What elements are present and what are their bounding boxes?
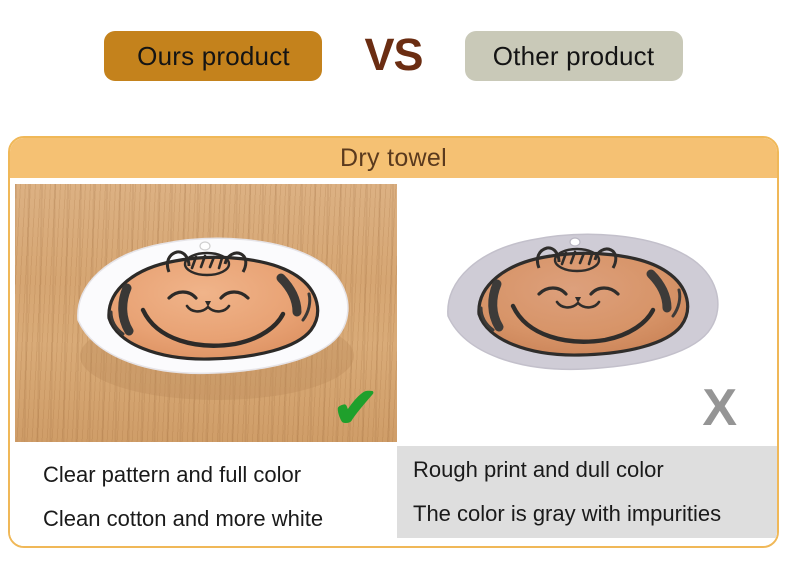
photo-strip: ✔	[10, 184, 777, 442]
card-title: Dry towel	[10, 138, 777, 178]
caption-ours-1: Clear pattern and full color	[43, 453, 397, 497]
comparison-card: Dry towel	[8, 136, 779, 548]
badge-ours-label: Ours product	[137, 41, 290, 72]
towel-ours	[65, 228, 355, 403]
badge-other-label: Other product	[493, 41, 655, 72]
card-title-label: Dry towel	[340, 144, 447, 173]
green-check-icon: ✔	[332, 380, 379, 436]
vs-label: VS	[364, 32, 422, 80]
comparison-header: Ours product VS Other product	[0, 0, 787, 112]
badge-other-product: Other product	[465, 31, 683, 81]
towel-other-illustration	[435, 224, 725, 399]
towel-other	[435, 224, 725, 399]
caption-ours-2: Clean cotton and more white	[43, 497, 397, 541]
captions-other: Rough print and dull color The color is …	[397, 446, 777, 538]
photo-other-product: X	[397, 184, 777, 442]
card-body: ✔	[10, 178, 777, 548]
towel-ours-illustration	[65, 228, 355, 403]
photo-ours-product: ✔	[15, 184, 397, 442]
caption-other-1: Rough print and dull color	[413, 448, 777, 492]
badge-ours-product: Ours product	[104, 31, 322, 81]
caption-other-2: The color is gray with impurities	[413, 492, 777, 536]
gray-x-icon: X	[702, 382, 737, 434]
caption-strip: Clear pattern and full color Clean cotto…	[10, 446, 777, 548]
captions-ours: Clear pattern and full color Clean cotto…	[10, 446, 397, 548]
